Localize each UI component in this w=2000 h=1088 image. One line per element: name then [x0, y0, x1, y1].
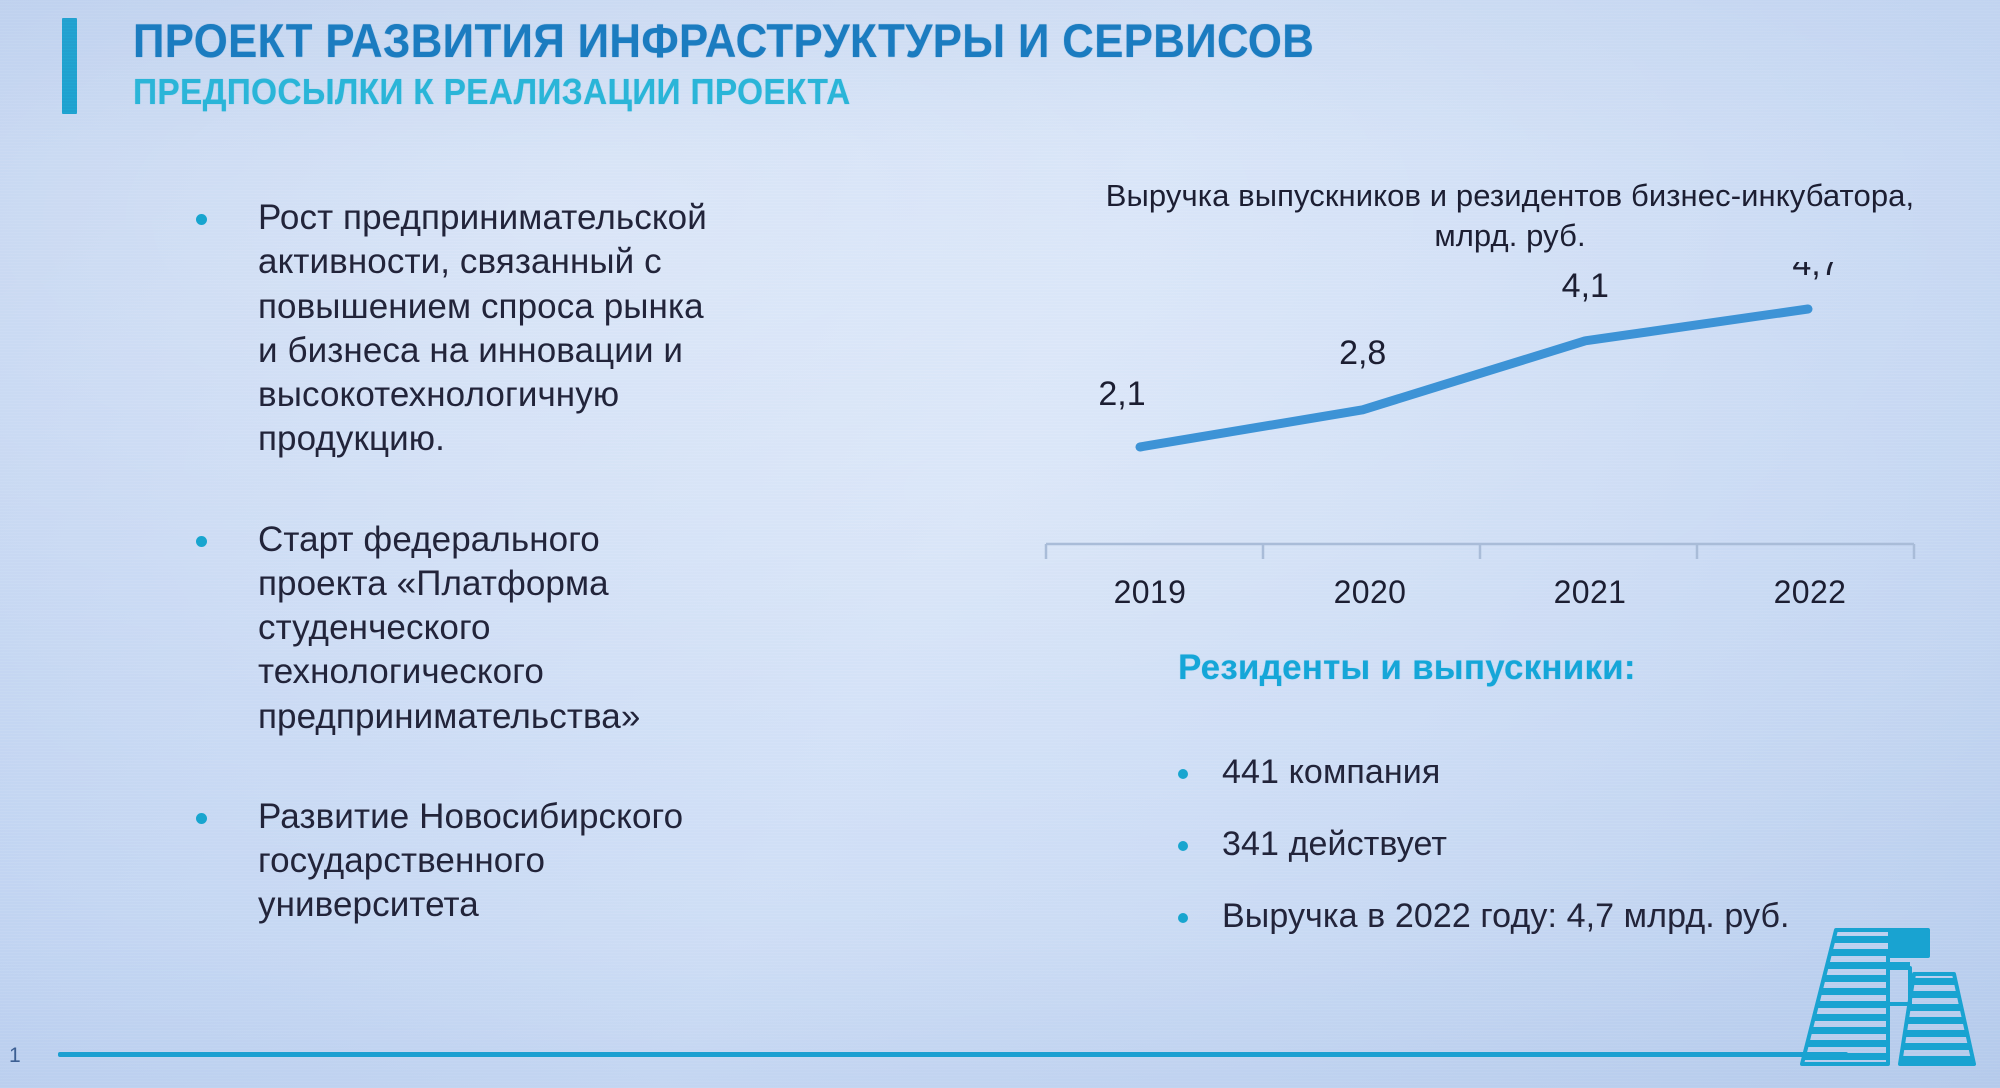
list-item-text: Старт федерального проекта «Платформа ст…	[258, 520, 640, 736]
chart-data-label: 2,1	[1098, 375, 1145, 413]
bullet-dot-icon	[1178, 769, 1188, 779]
chart-title: Выручка выпускников и резидентов бизнес-…	[1040, 176, 1920, 257]
chart-plot-area: 2,1 2,8 4,1 4,7	[1040, 262, 1920, 592]
chart-x-tick-labels: 2019 2020 2021 2022	[1040, 574, 1920, 611]
page-number: 1	[9, 1044, 21, 1068]
nsu-logo-icon	[1792, 916, 1982, 1076]
bullet-dot-icon	[1178, 913, 1188, 923]
bullet-dot-icon	[196, 214, 207, 225]
list-item: Старт федерального проекта «Платформа ст…	[196, 518, 716, 739]
residents-heading: Резиденты и выпускники:	[1178, 648, 1636, 688]
list-item: Рост предпринимательской активности, свя…	[196, 196, 716, 462]
list-item-text: 341 действует	[1222, 825, 1447, 863]
list-item: 341 действует	[1178, 824, 1918, 865]
list-item-text: Развитие Новосибирского государственного…	[258, 797, 683, 925]
bullet-dot-icon	[196, 813, 207, 824]
slide-canvas: ПРОЕКТ РАЗВИТИЯ ИНФРАСТРУКТУРЫ И СЕРВИСО…	[0, 0, 2000, 1088]
bullet-dot-icon	[1178, 841, 1188, 851]
list-item-text: 441 компания	[1222, 753, 1440, 791]
footer-divider	[58, 1052, 1848, 1057]
page-title: ПРОЕКТ РАЗВИТИЯ ИНФРАСТРУКТУРЫ И СЕРВИСО…	[133, 17, 1314, 65]
x-tick-label: 2022	[1700, 574, 1920, 611]
revenue-line-chart: Выручка выпускников и резидентов бизнес-…	[1040, 176, 1920, 596]
chart-x-axis	[1046, 544, 1914, 559]
x-tick-label: 2021	[1480, 574, 1700, 611]
x-tick-label: 2020	[1260, 574, 1480, 611]
chart-series-line	[1140, 309, 1808, 447]
page-title-block: ПРОЕКТ РАЗВИТИЯ ИНФРАСТРУКТУРЫ И СЕРВИСО…	[133, 17, 1403, 111]
list-item-text: Рост предпринимательской активности, свя…	[258, 198, 707, 458]
x-tick-label: 2019	[1040, 574, 1260, 611]
chart-data-label: 4,7	[1792, 262, 1839, 283]
list-item: 441 компания	[1178, 752, 1918, 793]
title-accent-bar	[62, 18, 77, 114]
left-bullet-list: Рост предпринимательской активности, свя…	[196, 196, 716, 928]
bullet-dot-icon	[196, 536, 207, 547]
list-item: Развитие Новосибирского государственного…	[196, 795, 716, 928]
chart-data-label: 4,1	[1562, 267, 1609, 305]
chart-data-label: 2,8	[1339, 334, 1386, 372]
list-item-text: Выручка в 2022 году: 4,7 млрд. руб.	[1222, 897, 1790, 935]
page-subtitle: ПРЕДПОСЫЛКИ К РЕАЛИЗАЦИИ ПРОЕКТА	[133, 74, 1314, 111]
residents-bullet-list: 441 компания 341 действует Выручка в 202…	[1178, 752, 1918, 936]
